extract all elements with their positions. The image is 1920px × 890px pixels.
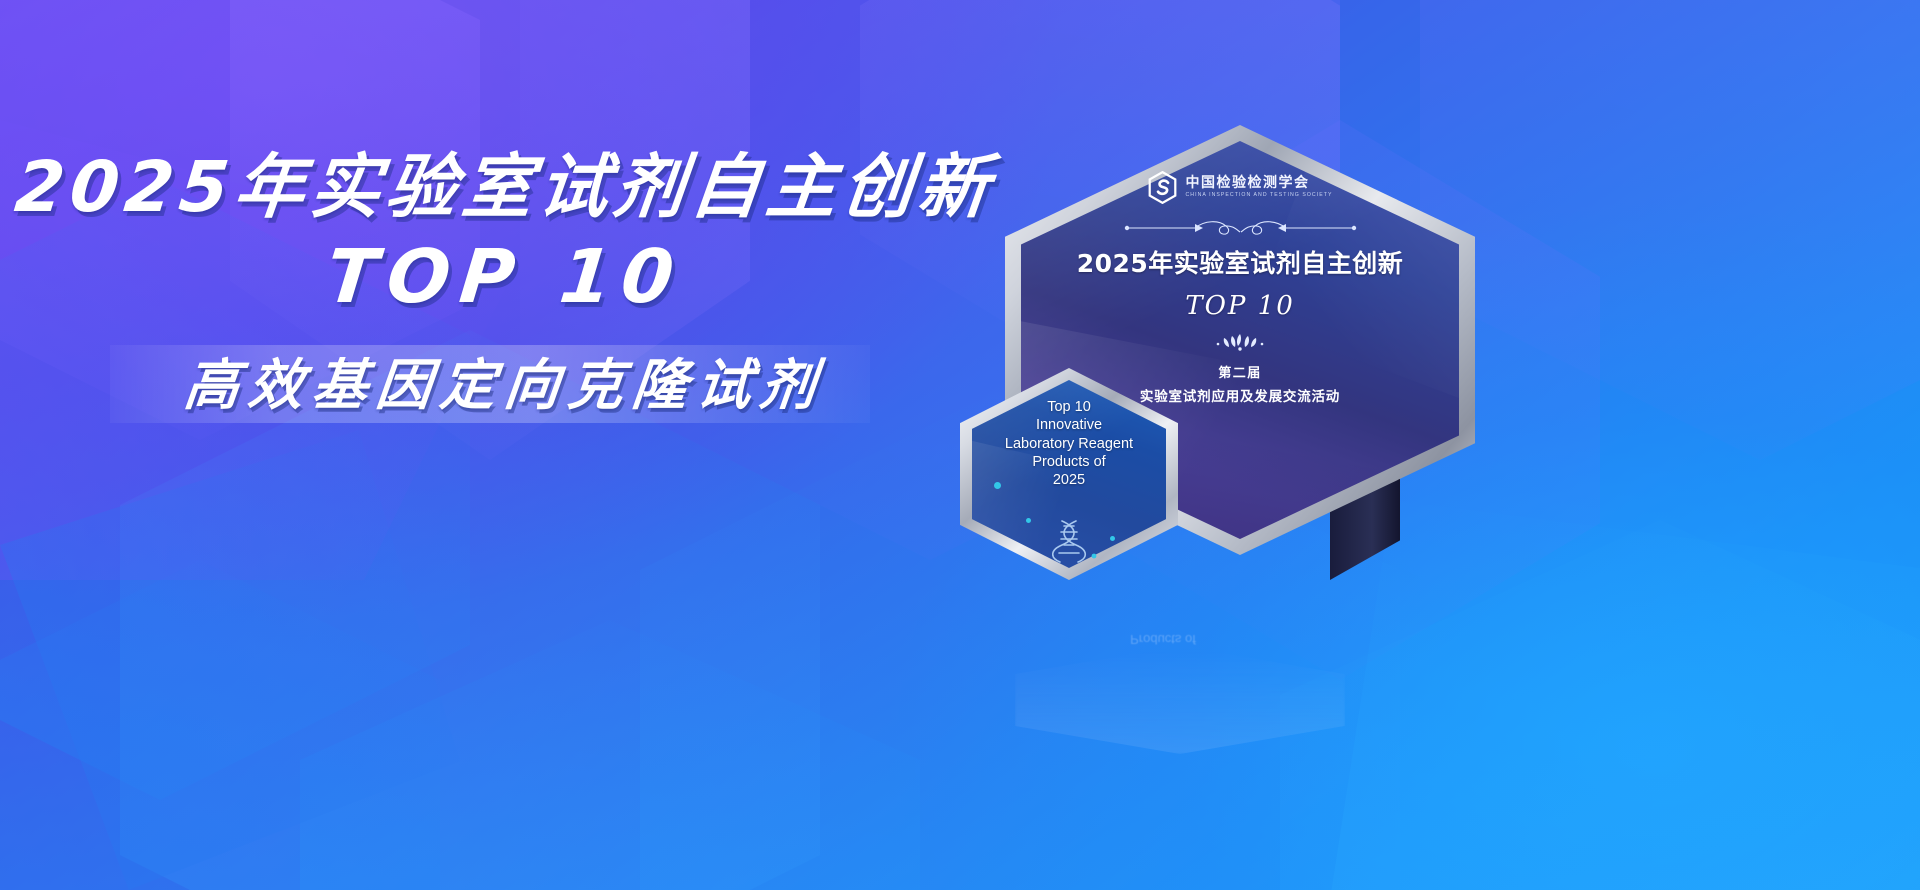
small-hexagon-plaque: Top 10 Innovative Laboratory Reagent Pro…: [960, 368, 1178, 580]
plaque-top10: TOP 10: [1005, 291, 1475, 321]
ornamental-divider-icon: [1123, 217, 1358, 239]
promo-banner: 2025年实验室试剂自主创新 TOP 10 高效基因定向克隆试剂: [0, 0, 1920, 890]
small-plaque-line-2: Innovative: [1036, 416, 1102, 434]
small-plaque-line-3: Laboratory Reagent: [1005, 435, 1133, 453]
award-trophy: 中国检验检测学会 CHINA INSPECTION AND TESTING SO…: [960, 100, 1520, 660]
small-plaque-line-1: Top 10: [1047, 398, 1091, 416]
society-name-en: CHINA INSPECTION AND TESTING SOCIETY: [1186, 193, 1333, 198]
hexagon-s-logo-icon: [1148, 171, 1177, 204]
society-logo-block: 中国检验检测学会 CHINA INSPECTION AND TESTING SO…: [1005, 171, 1475, 204]
small-plaque-line-4: Products of: [1032, 453, 1105, 471]
headline-line-2: TOP 10: [0, 234, 1015, 320]
society-name-block: 中国检验检测学会 CHINA INSPECTION AND TESTING SO…: [1186, 176, 1333, 198]
headline-line-1: 2025年实验室试剂自主创新: [0, 150, 1014, 226]
subtitle-text: 高效基因定向克隆试剂: [0, 340, 1014, 420]
plaque-title: 2025年实验室试剂自主创新: [1005, 244, 1475, 280]
small-plaque-line-5: 2025: [1053, 471, 1085, 489]
headline-block: 2025年实验室试剂自主创新 TOP 10: [0, 150, 1010, 320]
laurel-leaf-icon: [1194, 330, 1286, 352]
society-name-cn: 中国检验检测学会: [1186, 176, 1333, 190]
dna-helix-icon: [1052, 518, 1110, 564]
